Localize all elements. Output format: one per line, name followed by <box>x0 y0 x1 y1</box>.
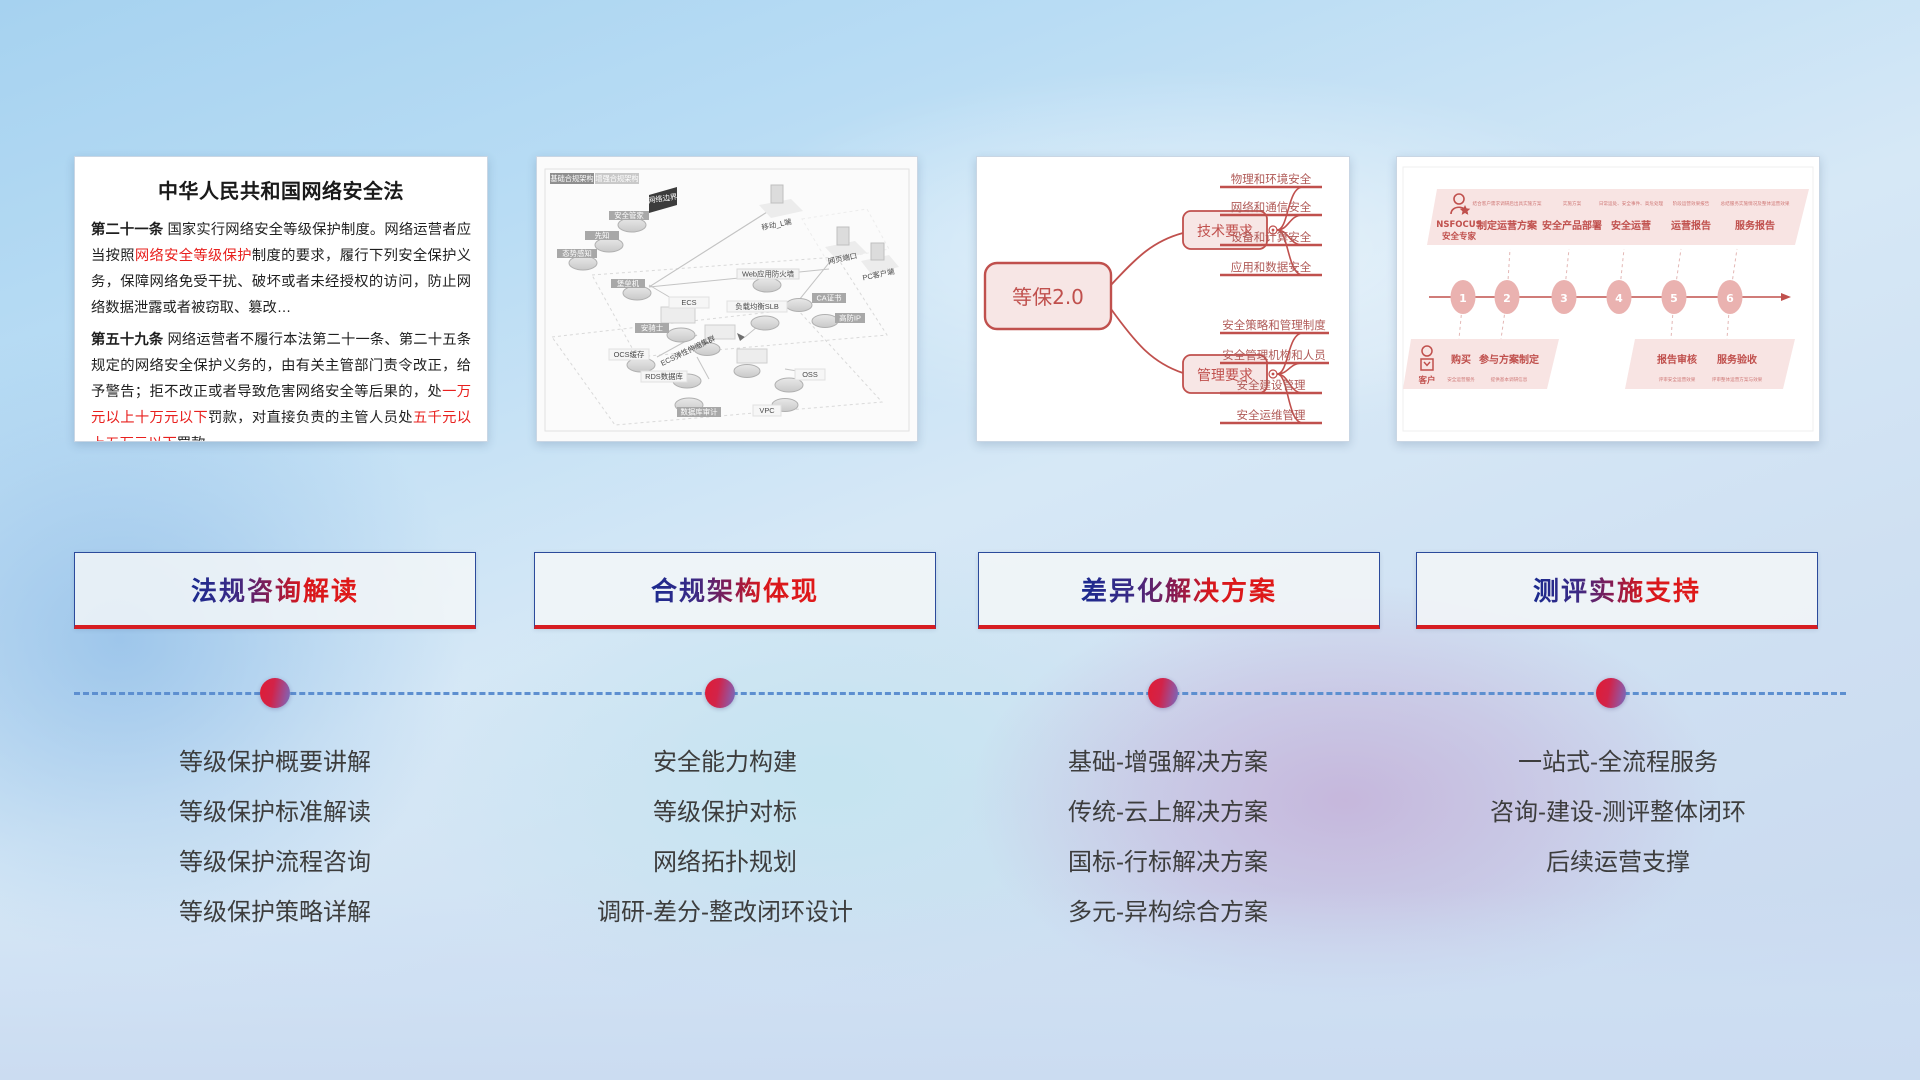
nsfocus-step-2-desc-top: 结合客户需求调研后出具实施方案 <box>1473 200 1542 207</box>
arch-label-baoleiji: 堡垒机 <box>617 279 640 288</box>
list-item: 等级保护流程咨询 <box>55 838 495 888</box>
list-item: 等级保护概要讲解 <box>55 738 495 788</box>
pillar-list-1: 安全能力构建 等级保护对标 网络拓扑规划 调研-差分-整改闭环设计 <box>505 738 945 938</box>
card-dengbao-mindmap[interactable]: 等保2.0 技术要求 物理和环境安全 网络和通信安全 设备和计算安全 应用和数据… <box>976 156 1350 442</box>
mindmap-center-label: 等保2.0 <box>1012 285 1084 309</box>
nsfocus-step-3-title: 安全产品部署 <box>1542 219 1602 232</box>
nsfocus-step-4-title: 安全运营 <box>1611 219 1651 232</box>
pillar-title-2: 差异化解决方案 <box>1081 571 1277 608</box>
pillar-box-3[interactable]: 测评实施支持 <box>1416 552 1818 629</box>
nsfocus-step-2-title-bottom: 参与方案制定 <box>1479 353 1539 366</box>
nsfocus-customer-role: 客户 <box>1417 375 1435 386</box>
slide-stage: 中华人民共和国网络安全法 第二十一条 国家实行网络安全等级保护制度。网络运营者应… <box>0 0 1920 1080</box>
mindmap-branch-1-leaf-1: 安全管理机构和人员 <box>1222 348 1326 362</box>
nsfocus-step-6-number: 6 <box>1726 292 1734 305</box>
pillar-list-0: 等级保护概要讲解 等级保护标准解读 等级保护流程咨询 等级保护策略详解 <box>55 738 495 938</box>
pillar-box-1[interactable]: 合规架构体现 <box>534 552 936 629</box>
arch-label-ca: CA证书 <box>816 294 842 303</box>
nsfocus-bottom-banner-right <box>1625 339 1795 389</box>
law-card-inner: 中华人民共和国网络安全法 第二十一条 国家实行网络安全等级保护制度。网络运营者应… <box>75 157 487 441</box>
timeline-dot-3[interactable] <box>1596 678 1626 708</box>
nsfocus-step-5-title-top: 运营报告 <box>1671 219 1711 232</box>
law-title: 中华人民共和国网络安全法 <box>91 175 471 204</box>
nsfocus-expert-line2: 安全专家 <box>1442 231 1477 242</box>
pillar-title-0: 法规咨询解读 <box>191 571 359 608</box>
card-nsfocus-service-timeline[interactable]: NSFOCUS 安全专家 结合客户需求调研后出具实施方案 制定运营方案 实施方案… <box>1396 156 1820 442</box>
nsfocus-step-1-title: 购买 <box>1451 353 1471 366</box>
nsfocus-step-1-desc: 安全运营服务 <box>1447 376 1475 383</box>
mindmap-diagram: 等保2.0 技术要求 物理和环境安全 网络和通信安全 设备和计算安全 应用和数据… <box>977 157 1349 441</box>
pillar-title-1: 合规架构体现 <box>651 571 819 608</box>
law-article-number-59: 第五十九条 <box>91 332 163 348</box>
timeline-dot-0[interactable] <box>260 678 290 708</box>
pillar-box-0[interactable]: 法规咨询解读 <box>74 552 476 629</box>
arch-label-ecs: ECS <box>681 298 696 307</box>
list-item: 咨询-建设-测评整体闭环 <box>1398 788 1838 838</box>
nsfocus-step-5-desc-bottom: 评审安全运营效果 <box>1659 376 1696 383</box>
nsfocus-step-3-desc: 实施方案 <box>1563 200 1582 207</box>
nsfocus-step-6-title-bottom: 服务验收 <box>1717 353 1757 366</box>
arch-label-anquanguanjia: 安全管家 <box>614 211 644 220</box>
list-item: 网络拓扑规划 <box>505 838 945 888</box>
nsfocus-step-5-number: 5 <box>1670 292 1678 305</box>
list-item: 后续运营支撑 <box>1398 838 1838 888</box>
nsfocus-step-6-desc-top: 总结服务实施情况及整体运营效果 <box>1721 200 1790 207</box>
list-item: 安全能力构建 <box>505 738 945 788</box>
nsfocus-step-6-desc-bottom: 评审整体运营方案与效果 <box>1712 376 1763 383</box>
law-paragraph-59: 第五十九条 网络运营者不履行本法第二十一条、第二十五条规定的网络安全保护义务的，… <box>91 327 471 442</box>
nsfocus-step-4-desc: 日常运处、安全事件、高危处理 <box>1599 200 1664 207</box>
arch-label-waf: Web应用防火墙 <box>742 270 795 279</box>
nsfocus-step-1-number: 1 <box>1459 292 1467 305</box>
nsfocus-timeline-diagram: NSFOCUS 安全专家 结合客户需求调研后出具实施方案 制定运营方案 实施方案… <box>1397 157 1819 441</box>
timeline-dashed-line <box>74 692 1846 695</box>
timeline-dot-1[interactable] <box>705 678 735 708</box>
law-paragraph-21: 第二十一条 国家实行网络安全等级保护制度。网络运营者应当按照网络安全等级保护制度… <box>91 217 471 321</box>
arch-label-taishiganzhi: 态势感知 <box>562 249 592 258</box>
list-item: 等级保护对标 <box>505 788 945 838</box>
nsfocus-top-banner <box>1427 189 1809 245</box>
arch-tab-0-label: 基础合规架构 <box>550 174 593 183</box>
card-cybersecurity-law[interactable]: 中华人民共和国网络安全法 第二十一条 国家实行网络安全等级保护制度。网络运营者应… <box>74 156 488 442</box>
nsfocus-step-5-title-bottom: 报告审核 <box>1657 353 1697 366</box>
list-item: 传统-云上解决方案 <box>948 788 1388 838</box>
pillar-list-3: 一站式-全流程服务 咨询-建设-测评整体闭环 后续运营支撑 <box>1398 738 1838 888</box>
mindmap-branch-1-leaf-2: 安全建设管理 <box>1237 378 1306 392</box>
mindmap-branch-0-leaf-0: 物理和环境安全 <box>1231 172 1312 186</box>
law-run-59-4: 罚款。 <box>177 436 220 442</box>
arch-label-xianzhi: 先知 <box>595 231 610 240</box>
list-item: 一站式-全流程服务 <box>1398 738 1838 788</box>
arch-label-vpc: VPC <box>759 406 775 415</box>
arch-label-slb: 负载均衡SLB <box>735 302 779 311</box>
mindmap-branch-1-leaf-0: 安全策略和管理制度 <box>1222 318 1326 332</box>
nsfocus-step-2-title-top: 制定运营方案 <box>1477 219 1538 232</box>
list-item: 国标-行标解决方案 <box>948 838 1388 888</box>
arch-label-gaofangip: 高防IP <box>839 314 861 323</box>
nsfocus-step-4-number: 4 <box>1615 292 1623 305</box>
mindmap-branch-1-leaf-3: 安全运维管理 <box>1237 408 1306 422</box>
list-item: 基础-增强解决方案 <box>948 738 1388 788</box>
nsfocus-step-6-title-top: 服务报告 <box>1735 219 1775 232</box>
law-run-59-2: 罚款，对直接负责的主管人员处 <box>208 410 413 426</box>
arch-label-dbaudit: 数据库审计 <box>681 408 719 417</box>
nsfocus-step-3-number: 3 <box>1560 292 1568 305</box>
mindmap-branch-0-leaf-3: 应用和数据安全 <box>1231 260 1312 274</box>
card-compliance-architecture[interactable]: 基础合规架构 增强合规架构 网络边界 <box>536 156 918 442</box>
nsfocus-step-5-desc-top: 阶段运营效果报告 <box>1673 200 1710 207</box>
arch-label-oss: OSS <box>802 370 818 379</box>
nsfocus-expert-line1: NSFOCUS <box>1436 220 1482 230</box>
list-item: 调研-差分-整改闭环设计 <box>505 888 945 938</box>
mindmap-branch-0-leaf-1: 网络和通信安全 <box>1231 200 1312 214</box>
law-run-21-1-highlight: 网络安全等级保护 <box>135 248 252 264</box>
nsfocus-step-2-desc-bottom: 提供基本调研信息 <box>1491 376 1528 383</box>
architecture-diagram: 基础合规架构 增强合规架构 网络边界 <box>537 157 917 441</box>
list-item: 多元-异构综合方案 <box>948 888 1388 938</box>
arch-label-anqishi: 安骑士 <box>641 324 664 333</box>
pillar-box-2[interactable]: 差异化解决方案 <box>978 552 1380 629</box>
pillar-list-2: 基础-增强解决方案 传统-云上解决方案 国标-行标解决方案 多元-异构综合方案 <box>948 738 1388 938</box>
law-article-number-21: 第二十一条 <box>91 222 163 238</box>
arch-label-rds: RDS数据库 <box>645 372 683 381</box>
mindmap-branch-0-leaf-2: 设备和计算安全 <box>1231 230 1312 244</box>
list-item: 等级保护标准解读 <box>55 788 495 838</box>
arch-label-ocs: OCS缓存 <box>614 350 645 359</box>
timeline-dot-2[interactable] <box>1148 678 1178 708</box>
nsfocus-step-2-number: 2 <box>1503 292 1511 305</box>
arch-tab-1-label: 增强合规架构 <box>595 174 638 183</box>
pillar-title-3: 测评实施支持 <box>1533 571 1701 608</box>
list-item: 等级保护策略详解 <box>55 888 495 938</box>
